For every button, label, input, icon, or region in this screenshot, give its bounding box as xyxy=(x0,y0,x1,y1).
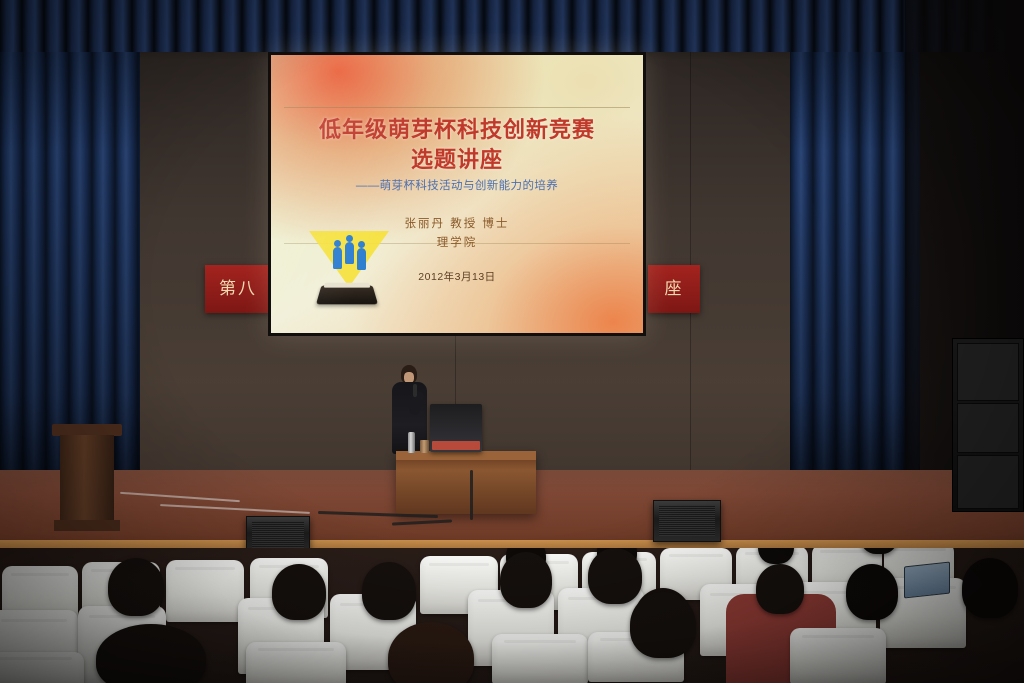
audience-head xyxy=(362,562,416,620)
presenter-table xyxy=(396,451,536,514)
slide-divider-top xyxy=(284,107,630,108)
logo-figure xyxy=(333,247,342,269)
attendee-laptop-screen xyxy=(904,562,950,599)
pa-speaker-box xyxy=(957,403,1019,453)
logo-figure xyxy=(345,242,354,264)
floor-monitor-speaker-right xyxy=(653,500,721,542)
audience-chair xyxy=(492,634,588,683)
banner-left: 第八 xyxy=(205,265,271,313)
slide-subtitle: ——萌芽杯科技活动与创新能力的培养 xyxy=(271,177,643,193)
audience-head xyxy=(962,558,1018,618)
pa-speaker-box xyxy=(957,455,1019,509)
audience-chair xyxy=(0,652,84,683)
audience-head-foreground xyxy=(96,624,206,683)
wooden-podium xyxy=(52,424,122,534)
banner-right: 座 xyxy=(648,265,700,313)
logo-figure xyxy=(357,248,366,270)
audience-area xyxy=(0,548,1024,683)
audience-head-foreground xyxy=(630,592,696,658)
speaker-grille xyxy=(252,521,304,548)
water-bottle xyxy=(408,432,415,453)
speaker-grille xyxy=(659,505,715,536)
audience-chair xyxy=(246,642,346,683)
pa-speaker-stack xyxy=(952,338,1024,512)
audience-head xyxy=(756,564,804,614)
banner-right-text: 座 xyxy=(648,265,700,313)
stage-curtain-valance xyxy=(0,0,1024,52)
slide-title-line2: 选题讲座 xyxy=(271,145,643,175)
table-surface xyxy=(396,451,536,460)
lecture-hall-photo: 第八 座 低年级萌芽杯科技创新竞赛 选题讲座 ——萌芽杯科技活动与创新能力的培养… xyxy=(0,0,1024,683)
stage-curtain-right xyxy=(790,0,920,505)
podium-body xyxy=(60,435,114,521)
audience-chair xyxy=(790,628,886,683)
laptop-projector-unit xyxy=(430,404,482,452)
slide-title-line1: 低年级萌芽杯科技创新竞赛 xyxy=(319,117,595,142)
pa-speaker-box xyxy=(957,343,1019,401)
paper-cup xyxy=(420,440,429,453)
projection-screen: 低年级萌芽杯科技创新竞赛 选题讲座 ——萌芽杯科技活动与创新能力的培养 张丽丹 … xyxy=(271,55,643,333)
podium-base xyxy=(54,520,120,531)
audience-head-foreground xyxy=(388,622,474,683)
stage-cable-vertical xyxy=(470,470,473,520)
audience-head xyxy=(500,552,552,608)
audience-head xyxy=(108,558,164,616)
audience-chair xyxy=(166,560,244,622)
logo-book xyxy=(316,285,378,304)
projection-screen-frame: 低年级萌芽杯科技创新竞赛 选题讲座 ——萌芽杯科技活动与创新能力的培养 张丽丹 … xyxy=(268,52,646,336)
banner-left-text: 第八 xyxy=(205,265,271,313)
curtain-shading xyxy=(790,0,920,505)
audience-head xyxy=(588,548,642,604)
graduation-book-logo-icon xyxy=(307,231,393,317)
audience-head xyxy=(272,564,326,620)
slide-title: 低年级萌芽杯科技创新竞赛 选题讲座 xyxy=(271,115,643,175)
microphone-icon xyxy=(413,384,417,397)
audience-head xyxy=(846,564,898,620)
